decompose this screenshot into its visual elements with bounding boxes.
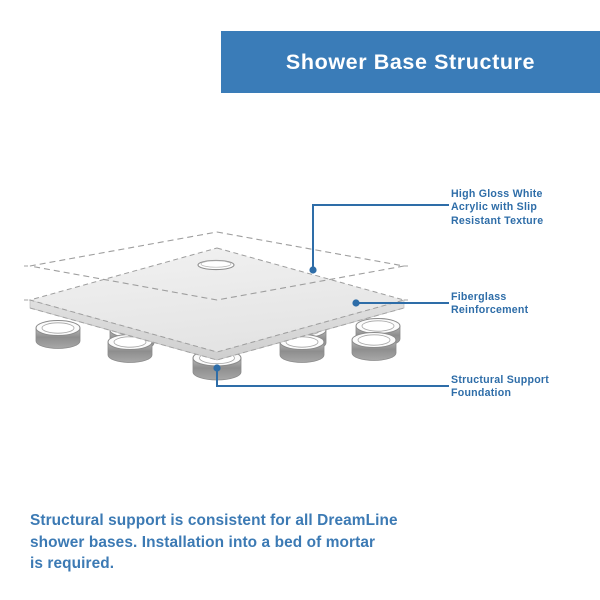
acrylic-plate-outline <box>30 232 404 300</box>
callout-acrylic-line-2: Acrylic with Slip <box>451 201 543 214</box>
callout-fiberglass-label: Fiberglass Reinforcement <box>451 291 528 318</box>
leader-line-fiberglass <box>352 299 448 306</box>
drain-opening <box>198 260 234 269</box>
leader-line-support <box>213 364 448 386</box>
page-canvas: Shower Base Structure <box>0 0 600 600</box>
fiberglass-slab-layer <box>24 248 410 360</box>
caption-line-3: is required. <box>30 553 450 575</box>
support-rings-group <box>36 319 400 381</box>
callout-support-line-1: Structural Support <box>451 374 549 387</box>
callout-acrylic-line-3: Resistant Texture <box>451 215 543 228</box>
callout-fiberglass-line-2: Reinforcement <box>451 304 528 317</box>
page-title: Shower Base Structure <box>286 50 535 75</box>
callout-acrylic-label: High Gloss White Acrylic with Slip Resis… <box>451 188 543 228</box>
callout-support-line-2: Foundation <box>451 387 549 400</box>
callout-acrylic-line-1: High Gloss White <box>451 188 543 201</box>
acrylic-top-layer <box>24 232 411 344</box>
caption-line-1: Structural support is consistent for all… <box>30 510 450 532</box>
title-banner: Shower Base Structure <box>221 31 600 93</box>
support-ring <box>110 323 154 351</box>
callout-support-label: Structural Support Foundation <box>451 374 549 401</box>
support-ring-front <box>193 350 241 380</box>
callout-fiberglass-line-1: Fiberglass <box>451 291 528 304</box>
fiberglass-top-face <box>30 248 404 352</box>
support-ring <box>352 333 396 361</box>
support-ring <box>108 335 152 363</box>
bottom-caption: Structural support is consistent for all… <box>30 510 450 575</box>
support-ring <box>356 319 400 347</box>
leader-line-acrylic <box>309 205 448 274</box>
support-ring <box>282 323 326 351</box>
callout-leader-lines <box>213 205 448 386</box>
support-ring <box>36 321 80 349</box>
caption-line-2: shower bases. Installation into a bed of… <box>30 532 450 554</box>
support-ring <box>280 335 324 363</box>
